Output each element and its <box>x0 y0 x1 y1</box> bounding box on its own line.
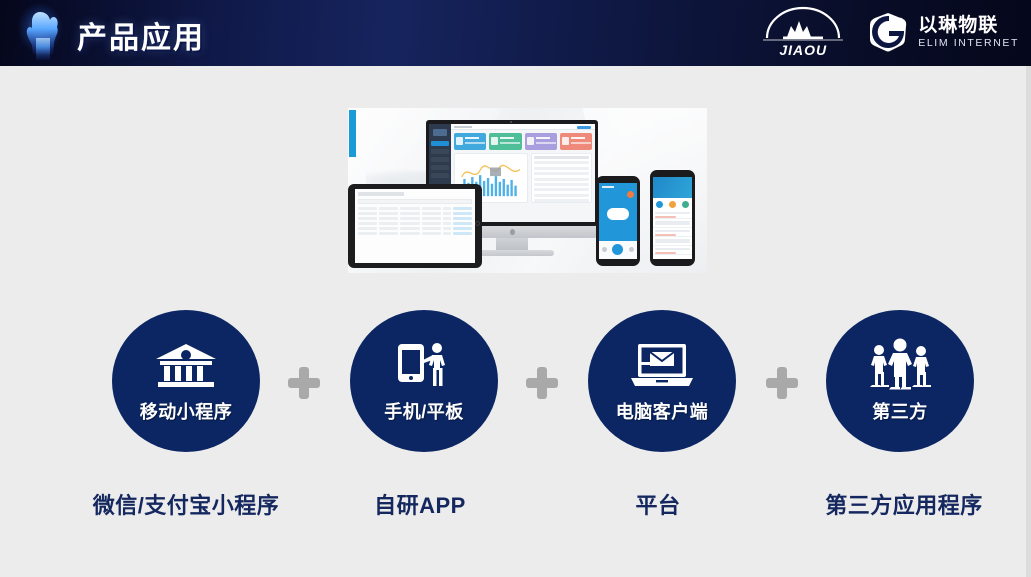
accent-bar <box>349 110 356 157</box>
slide-root: 产品应用 JIAOU 以琳物联 ELIM I <box>0 0 1031 577</box>
caption-mini-program: 微信/支付宝小程序 <box>56 488 316 520</box>
jiaou-logo: JIAOU <box>757 6 849 58</box>
apple-logo-icon <box>510 229 515 235</box>
caption-platform: 平台 <box>528 488 788 520</box>
tablet-table-screen <box>355 189 475 263</box>
platform-circle-label: 电脑客户端 <box>616 398 709 424</box>
laptop-envelope-icon <box>629 338 695 390</box>
three-people-icon <box>865 338 935 390</box>
plus-icon <box>288 367 320 399</box>
elim-name-en: ELIM INTERNET <box>918 38 1019 49</box>
smartphone-person-icon <box>392 338 456 390</box>
platform-circle-desktop-client[interactable]: 电脑客户端 <box>588 310 736 452</box>
platform-circle-label: 移动小程序 <box>140 398 233 424</box>
platform-circle-label: 第三方 <box>872 398 928 424</box>
phone-list-screen <box>653 177 692 259</box>
sunburst-arch-icon <box>757 6 849 42</box>
dashboard-topbar <box>451 124 595 130</box>
caption-self-developed-app: 自研APP <box>290 488 550 520</box>
platform-circle-label: 手机/平板 <box>384 398 464 424</box>
platform-captions-row: 微信/支付宝小程序 自研APP 平台 第三方应用程序 <box>0 488 1031 528</box>
platform-circles-row: 移动小程序 手机/平板 <box>0 310 1031 455</box>
raised-fist-icon <box>8 0 78 66</box>
plus-icon <box>766 367 798 399</box>
jiaou-wordmark: JIAOU <box>757 42 849 58</box>
fist-graphic <box>18 4 64 62</box>
multi-device-product-screenshot <box>348 108 707 273</box>
ipad-tablet-table <box>348 184 482 268</box>
phone-home-screen <box>599 183 637 259</box>
elim-name-cn: 以琳物联 <box>918 16 1019 35</box>
bank-building-icon <box>154 338 218 390</box>
elim-logo: 以琳物联 ELIM INTERNET <box>867 11 1019 53</box>
dashboard-data-table <box>531 153 592 203</box>
platform-circle-mobile-tablet[interactable]: 手机/平板 <box>350 310 498 452</box>
phone-app-home <box>596 176 640 266</box>
plus-icon <box>526 367 558 399</box>
caption-third-party-app: 第三方应用程序 <box>774 488 1031 520</box>
platform-circle-third-party[interactable]: 第三方 <box>826 310 974 452</box>
platform-circle-mini-program[interactable]: 移动小程序 <box>112 310 260 452</box>
slide-header: 产品应用 JIAOU 以琳物联 ELIM I <box>0 0 1031 66</box>
page-title: 产品应用 <box>77 13 205 57</box>
dashboard-stat-cards <box>454 133 592 150</box>
header-logos: JIAOU 以琳物联 ELIM INTERNET <box>757 6 1019 58</box>
g-hexagon-logo-icon <box>867 11 909 53</box>
phone-app-list <box>650 170 695 266</box>
